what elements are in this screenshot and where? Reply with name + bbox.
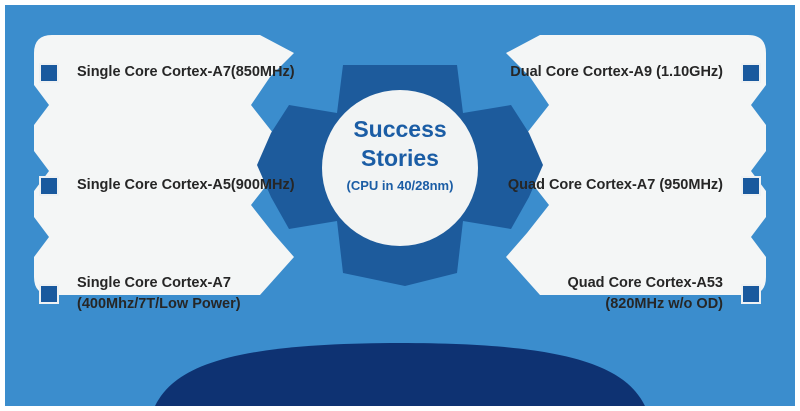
square-bullet-icon <box>741 63 761 83</box>
square-bullet-icon <box>39 176 59 196</box>
footer-navy-shape <box>155 343 645 406</box>
center-callout: Success Stories (CPU in 40/28nm) <box>314 115 486 193</box>
square-bullet-icon <box>39 284 59 304</box>
square-bullet-icon <box>39 63 59 83</box>
center-subtitle: (CPU in 40/28nm) <box>314 178 486 193</box>
list-item-label: Dual Core Cortex-A9 (1.10GHz) <box>510 62 723 83</box>
infographic-root: Single Core Cortex-A7(850MHz) Single Cor… <box>0 0 800 411</box>
list-item-left-3[interactable]: Single Core Cortex-A7 (400Mhz/7T/Low Pow… <box>39 270 241 318</box>
list-item-label: Quad Core Cortex-A53 (820MHz w/o OD) <box>567 273 723 315</box>
list-item-label: Single Core Cortex-A7(850MHz) <box>77 62 295 83</box>
list-item-label: Single Core Cortex-A5(900MHz) <box>77 175 295 196</box>
list-item-right-3[interactable]: Quad Core Cortex-A53 (820MHz w/o OD) <box>567 270 761 318</box>
square-bullet-icon <box>741 284 761 304</box>
list-item-left-1[interactable]: Single Core Cortex-A7(850MHz) <box>39 55 295 91</box>
list-item-right-1[interactable]: Dual Core Cortex-A9 (1.10GHz) <box>510 55 761 91</box>
list-item-label: Quad Core Cortex-A7 (950MHz) <box>508 175 723 196</box>
list-item-right-2[interactable]: Quad Core Cortex-A7 (950MHz) <box>508 168 761 204</box>
list-item-left-2[interactable]: Single Core Cortex-A5(900MHz) <box>39 168 295 204</box>
square-bullet-icon <box>741 176 761 196</box>
list-item-label: Single Core Cortex-A7 (400Mhz/7T/Low Pow… <box>77 273 241 315</box>
center-title: Success Stories <box>314 115 486 174</box>
infographic-canvas: Single Core Cortex-A7(850MHz) Single Cor… <box>5 5 795 406</box>
